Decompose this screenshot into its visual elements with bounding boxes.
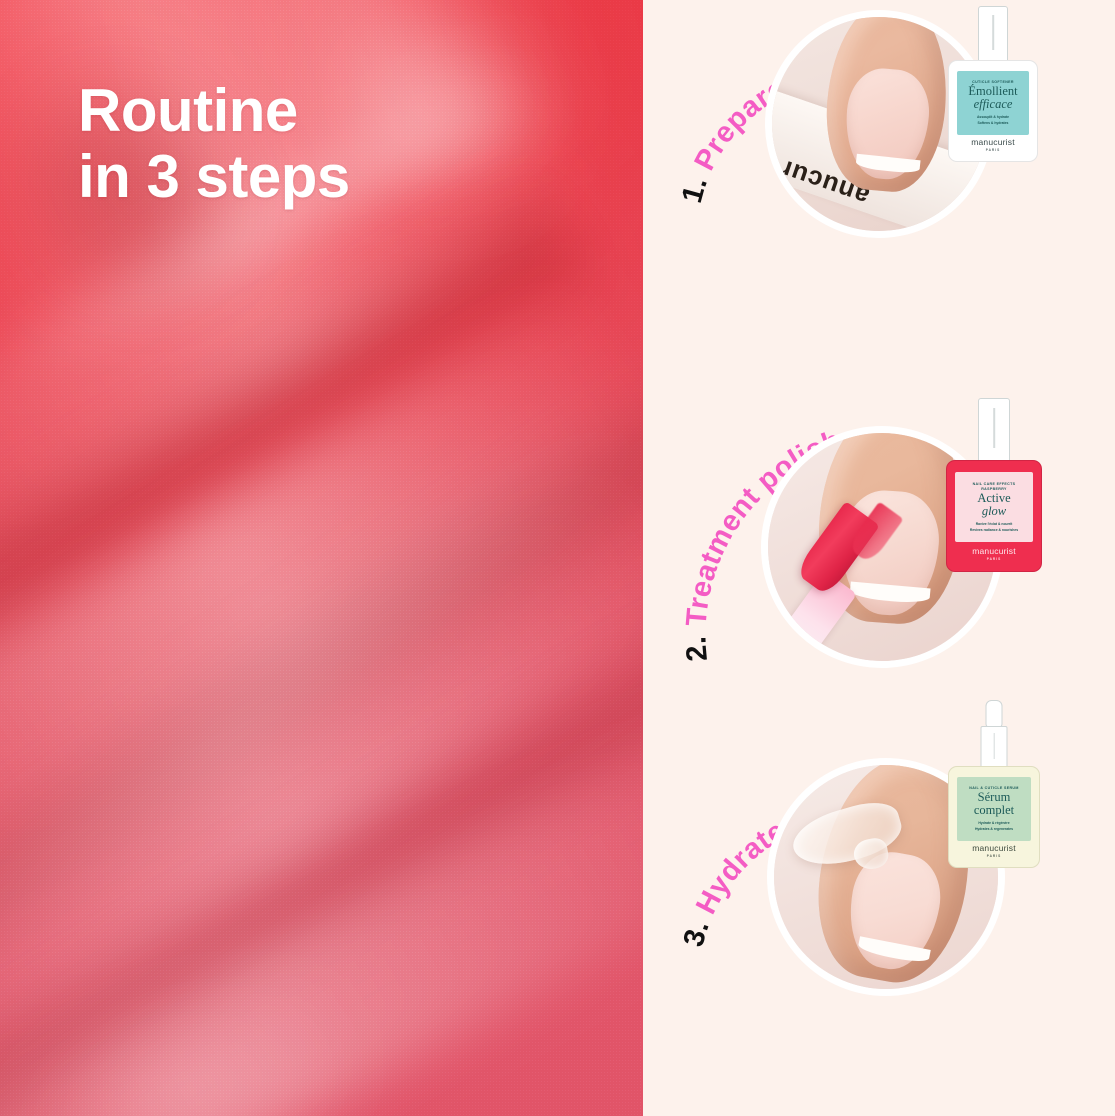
bottle-label-name: Active glow bbox=[977, 492, 1010, 518]
silk-highlight-fold bbox=[0, 455, 643, 1116]
silk-shadow-fold bbox=[0, 373, 643, 1011]
bottle-brand: manucurist PARIS bbox=[949, 137, 1037, 152]
step-1: 1. Prepare anucur bbox=[643, 0, 1115, 372]
promo-graphic: Routine in 3 steps 1. Prepare anucur bbox=[0, 0, 1115, 1116]
bottle-cap bbox=[978, 6, 1008, 64]
bottle-cap bbox=[978, 398, 1010, 464]
bottle-name-line-1: Émollient bbox=[968, 84, 1017, 98]
bottle-label: CUTICLE SOFTENER Émollient efficace Asso… bbox=[957, 71, 1029, 135]
bottle-body: NAIL CARE EFFECTS RASPBERRY Active glow … bbox=[946, 460, 1042, 572]
bottle-brand: manucurist PARIS bbox=[949, 843, 1039, 858]
bottle-brand: manucurist PARIS bbox=[947, 546, 1041, 561]
bottle-label-sub: Hydrate & régénère Hydrates & regenerate… bbox=[975, 821, 1013, 832]
left-hero-panel: Routine in 3 steps bbox=[0, 0, 643, 1116]
bottle-label-sub: Ravive l'éclat & nourrit Revives radianc… bbox=[970, 522, 1018, 533]
bottle-body: CUTICLE SOFTENER Émollient efficace Asso… bbox=[948, 60, 1038, 162]
step-3-number: 3. bbox=[678, 916, 716, 950]
bottle-name-line-1: Sérum bbox=[978, 790, 1011, 804]
silk-highlight-fold bbox=[0, 918, 435, 1116]
bottle-name-line-1: Active bbox=[977, 491, 1010, 505]
step-2-product-bottle: NAIL CARE EFFECTS RASPBERRY Active glow … bbox=[946, 398, 1042, 572]
steps-panel: 1. Prepare anucur bbox=[643, 0, 1115, 1116]
step-3-product-bottle: NAIL & CUTICLE SERUM Sérum complet Hydra… bbox=[948, 700, 1040, 868]
dropper-bulb bbox=[986, 700, 1003, 728]
bottle-name-line-2: complet bbox=[974, 804, 1014, 817]
step-2: 2. Treatment polish bbox=[643, 330, 1115, 720]
dropper-highlight bbox=[993, 733, 995, 759]
silk-shadow-fold bbox=[0, 0, 384, 442]
bottle-label: NAIL & CUTICLE SERUM Sérum complet Hydra… bbox=[957, 777, 1031, 841]
brand-name: manucurist bbox=[949, 137, 1037, 147]
bottle-sub-line-2: Revives radiance & nourishes bbox=[970, 528, 1018, 533]
step-3: 3. Hydrate bbox=[643, 690, 1115, 1090]
silk-highlight-fold bbox=[0, 706, 643, 1116]
step-1-number: 1. bbox=[676, 172, 714, 206]
brand-name: manucurist bbox=[949, 843, 1039, 853]
brand-city: PARIS bbox=[947, 557, 1041, 561]
bottle-label-sub: Assouplit & hydrate Softens & hydrates bbox=[977, 115, 1009, 126]
bottle-sub-line-1: Assouplit & hydrate bbox=[977, 115, 1009, 120]
bottle-label: NAIL CARE EFFECTS RASPBERRY Active glow … bbox=[955, 472, 1032, 542]
dropper-stem bbox=[981, 726, 1008, 770]
silk-highlight-fold bbox=[0, 268, 643, 915]
brand-name: manucurist bbox=[947, 546, 1041, 556]
bottle-cap-highlight bbox=[992, 15, 994, 50]
silk-shadow-fold bbox=[0, 172, 604, 710]
bottle-cap-highlight bbox=[993, 408, 995, 448]
bottle-label-name: Sérum complet bbox=[974, 791, 1014, 817]
bottle-name-line-2: glow bbox=[977, 505, 1010, 518]
step-2-number: 2. bbox=[680, 635, 713, 662]
bottle-sub-line-2: Softens & hydrates bbox=[977, 121, 1009, 126]
bottle-sub-line-1: Ravive l'éclat & nourrit bbox=[970, 522, 1018, 527]
bottle-sub-line-1: Hydrate & régénère bbox=[975, 821, 1013, 826]
bottle-label-name: Émollient efficace bbox=[968, 85, 1017, 111]
silk-shadow-fold bbox=[0, 600, 643, 1116]
page-title: Routine in 3 steps bbox=[78, 78, 350, 210]
brand-city: PARIS bbox=[949, 148, 1037, 152]
bottle-sub-line-2: Hydrates & regenerates bbox=[975, 827, 1013, 832]
step-1-product-bottle: CUTICLE SOFTENER Émollient efficace Asso… bbox=[948, 6, 1038, 162]
bottle-name-line-2: efficace bbox=[968, 98, 1017, 111]
brand-city: PARIS bbox=[949, 854, 1039, 858]
bottle-body: NAIL & CUTICLE SERUM Sérum complet Hydra… bbox=[948, 766, 1040, 868]
